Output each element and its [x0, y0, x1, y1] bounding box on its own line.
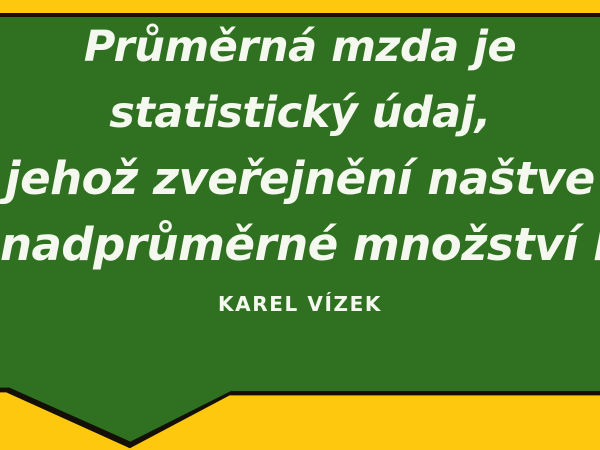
quote-text-block: Průměrná mzda je statistický údaj, jehož… — [0, 14, 600, 316]
quote-attribution: KAREL VÍZEK — [0, 292, 600, 316]
quote-line-2: statistický údaj, — [0, 80, 600, 146]
quote-line-4: nadprůměrné množství lidí. — [0, 212, 600, 278]
quote-line-1: Průměrná mzda je — [0, 14, 600, 80]
quote-line-3: jehož zveřejnění naštve — [0, 146, 600, 212]
quote-card: Průměrná mzda je statistický údaj, jehož… — [0, 0, 600, 450]
